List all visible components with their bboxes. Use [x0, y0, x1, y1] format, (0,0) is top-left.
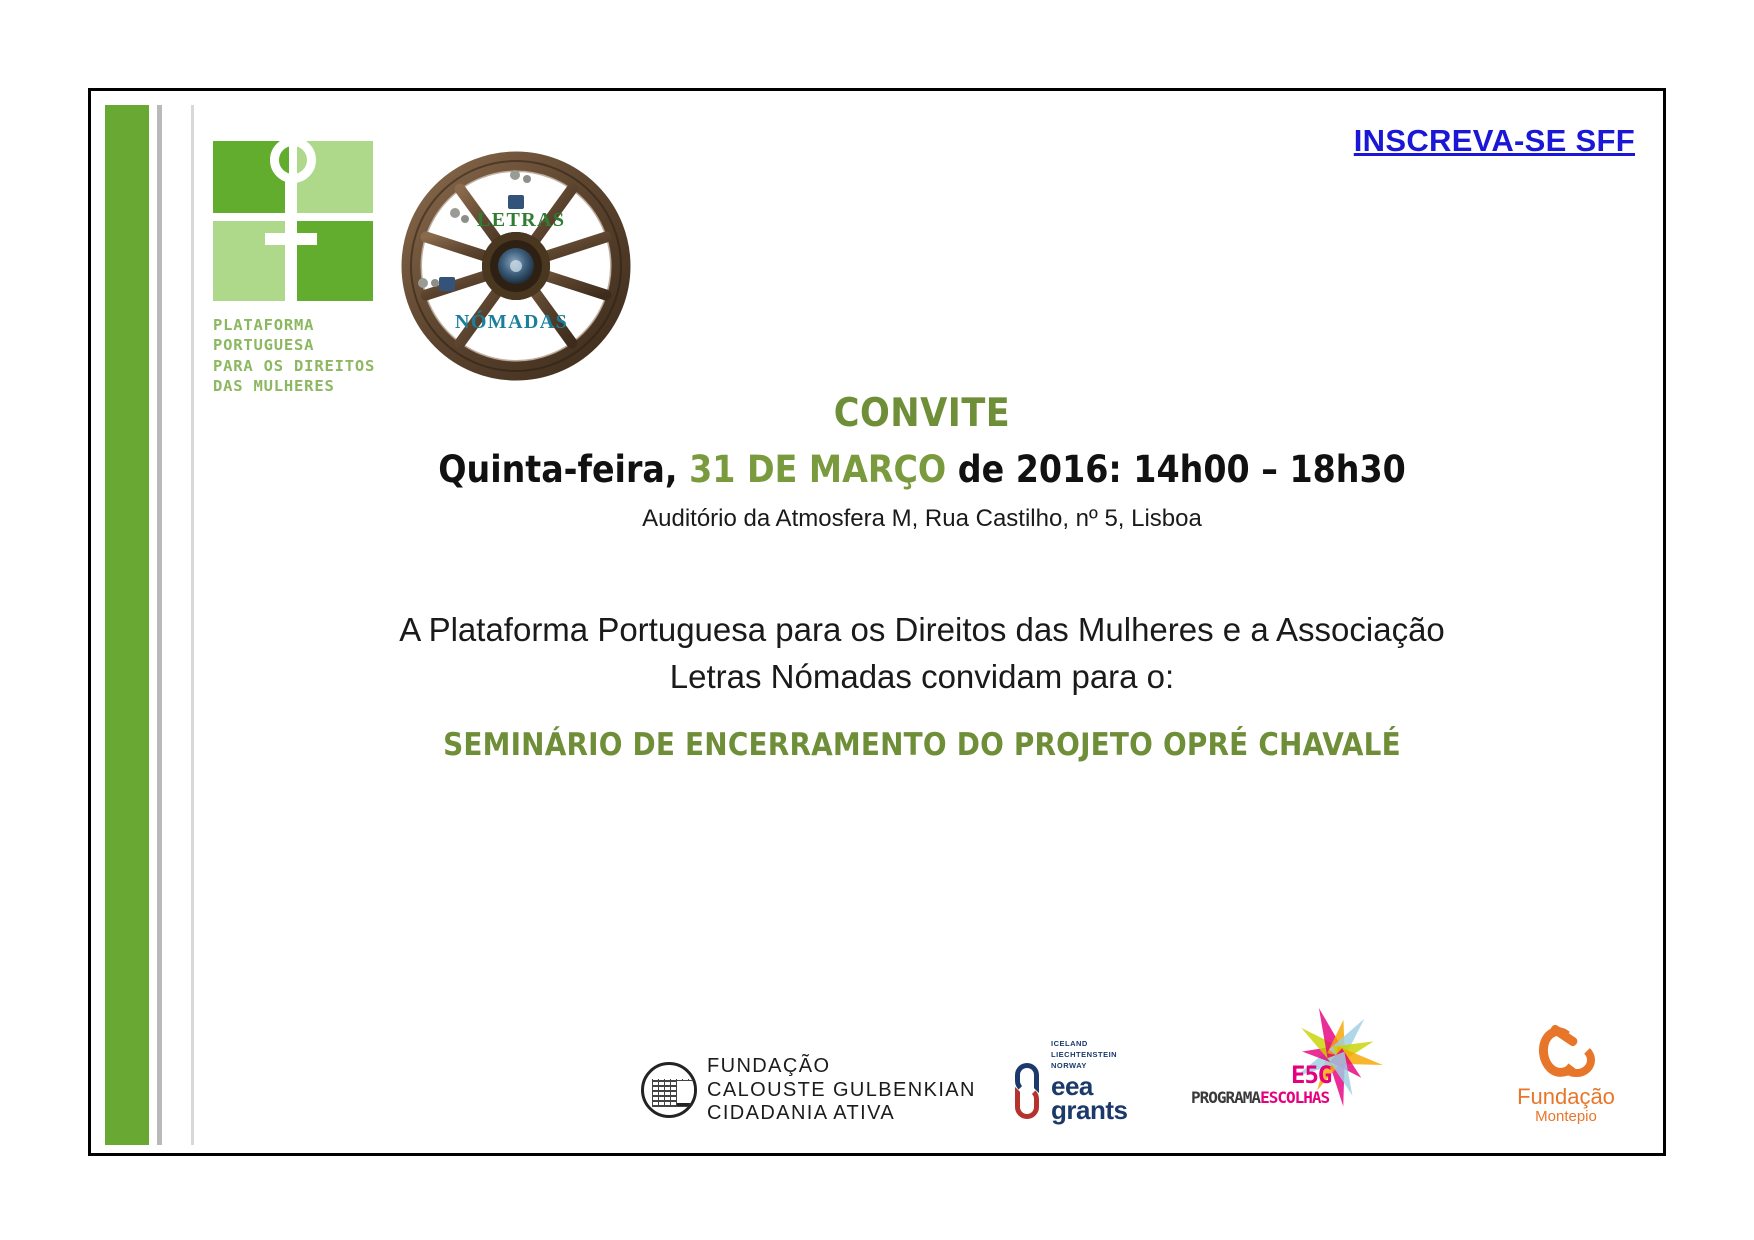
eea-word-2: grants — [1051, 1098, 1127, 1123]
ppdm-logo-line-1: PLATAFORMA PORTUGUESA — [213, 315, 413, 356]
gulbenkian-icon — [641, 1062, 697, 1118]
montepio-line-1: Fundação — [1501, 1085, 1631, 1108]
pelican-pouch — [1559, 1043, 1595, 1077]
ppdm-logo-line-2: PARA OS DIREITOS — [213, 356, 413, 376]
seminar-title: SEMINÁRIO DE ENCERRAMENTO DO PROJETO OPR… — [221, 727, 1623, 763]
ppdm-logo-mark — [213, 141, 373, 301]
event-date-prefix: Quinta-feira, — [438, 448, 689, 491]
sponsor-logos: FUNDAÇÃO CALOUSTE GULBENKIAN CIDADANIA A… — [611, 1015, 1633, 1135]
fundacao-montepio-logo: Fundação Montepio — [1501, 1025, 1631, 1125]
escolhas-wordmark: PROGRAMAESCOLHAS — [1191, 1088, 1329, 1107]
letras-nomadas-bottom-word: NÓMADAS — [455, 311, 568, 334]
ppdm-logo: PLATAFORMA PORTUGUESA PARA OS DIREITOS D… — [213, 141, 413, 397]
pelican-icon — [1533, 1025, 1599, 1081]
gulbenkian-logo: FUNDAÇÃO CALOUSTE GULBENKIAN CIDADANIA A… — [641, 1055, 976, 1125]
eea-grants-logo: ICELAND LIECHTENSTEIN NORWAY eea grants — [1011, 1039, 1127, 1123]
event-venue: Auditório da Atmosfera M, Rua Castilho, … — [221, 505, 1623, 533]
eea-countries: ICELAND LIECHTENSTEIN NORWAY — [1051, 1039, 1127, 1072]
green-accent-bar — [105, 105, 149, 1145]
invitation-content: CONVITE Quinta-feira, 31 DE MARÇO de 201… — [221, 391, 1623, 763]
body-line-1: A Plataforma Portuguesa para os Direitos… — [221, 607, 1623, 654]
gulbenkian-line-3: CIDADANIA ATIVA — [707, 1102, 976, 1125]
event-date-suffix: de 2016: 14h00 – 18h30 — [946, 448, 1406, 491]
escolhas-badge-text: E5G — [1291, 1061, 1331, 1089]
bar-divider-line-secondary — [191, 105, 194, 1145]
eea-country-1: ICELAND — [1051, 1039, 1127, 1050]
montepio-line-2: Montepio — [1501, 1108, 1631, 1125]
gulbenkian-logo-text: FUNDAÇÃO CALOUSTE GULBENKIAN CIDADANIA A… — [707, 1055, 976, 1125]
eea-arc-red — [1015, 1087, 1039, 1119]
ppdm-logo-text: PLATAFORMA PORTUGUESA PARA OS DIREITOS D… — [213, 315, 413, 397]
event-datetime: Quinta-feira, 31 DE MARÇO de 2016: 14h00… — [221, 448, 1623, 491]
venus-ring — [270, 137, 316, 183]
wagon-wheel-icon — [401, 151, 631, 381]
body-line-2: Letras Nómadas convidam para o: — [221, 654, 1623, 701]
letras-nomadas-logo: LETRAS NÓMADAS — [401, 151, 631, 381]
invitation-body: A Plataforma Portuguesa para os Direitos… — [221, 607, 1623, 763]
gulbenkian-line-2: CALOUSTE GULBENKIAN — [707, 1079, 976, 1102]
escolhas-badge: E5G — [1291, 1061, 1331, 1089]
letras-nomadas-top-word: LETRAS — [477, 209, 565, 232]
register-link[interactable]: INSCREVA-SE SFF — [1354, 123, 1635, 159]
left-green-bar-group — [105, 105, 201, 1145]
programa-escolhas-logo: E5G PROGRAMAESCOLHAS — [1191, 1017, 1391, 1127]
eea-country-2: LIECHTENSTEIN — [1051, 1050, 1127, 1061]
escolhas-word-escolhas: ESCOLHAS — [1260, 1088, 1329, 1107]
eea-grants-text: ICELAND LIECHTENSTEIN NORWAY eea grants — [1051, 1039, 1127, 1123]
escolhas-word-programa: PROGRAMA — [1191, 1088, 1260, 1107]
eea-country-3: NORWAY — [1051, 1061, 1127, 1072]
eea-grants-icon — [1011, 1061, 1045, 1123]
gulbenkian-line-1: FUNDAÇÃO — [707, 1055, 976, 1078]
flyer-page: INSCREVA-SE SFF PLATAFORMA PORTUGUESA PA… — [0, 0, 1754, 1240]
venus-cross — [265, 233, 317, 245]
bar-divider-line — [157, 105, 162, 1145]
venus-symbol-icon — [263, 137, 323, 301]
page-title: CONVITE — [221, 391, 1623, 436]
flyer-border-frame: INSCREVA-SE SFF PLATAFORMA PORTUGUESA PA… — [88, 88, 1666, 1156]
event-date-highlight: 31 DE MARÇO — [689, 448, 946, 491]
